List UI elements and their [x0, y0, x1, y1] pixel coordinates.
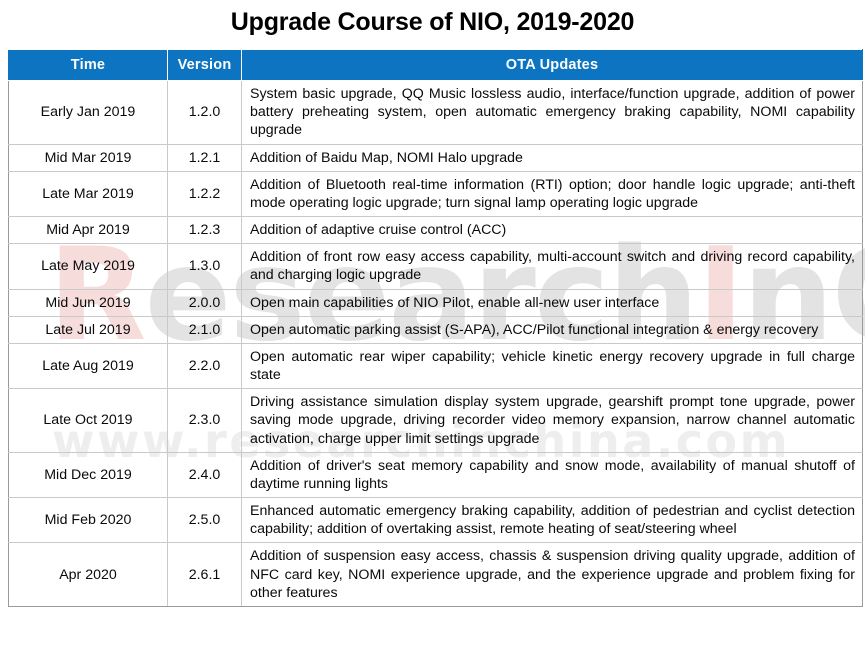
page-root: ResearchInChina www.researchinchina.com …: [0, 0, 865, 672]
cell-ota-updates: Enhanced automatic emergency braking cap…: [242, 498, 863, 543]
cell-version: 1.2.0: [168, 81, 242, 145]
cell-version: 2.5.0: [168, 498, 242, 543]
table-header: Time Version OTA Updates: [9, 50, 863, 81]
table-row: Mid Mar 20191.2.1Addition of Baidu Map, …: [9, 144, 863, 171]
ota-updates-table: Time Version OTA Updates Early Jan 20191…: [8, 49, 863, 607]
cell-ota-updates: Addition of driver's seat memory capabil…: [242, 452, 863, 497]
table-container: Time Version OTA Updates Early Jan 20191…: [8, 49, 862, 607]
cell-time: Late Jul 2019: [9, 316, 168, 343]
table-row: Mid Feb 20202.5.0Enhanced automatic emer…: [9, 498, 863, 543]
cell-version: 1.2.2: [168, 171, 242, 216]
cell-version: 2.0.0: [168, 289, 242, 316]
column-header-updates: OTA Updates: [242, 50, 863, 81]
cell-time: Late May 2019: [9, 244, 168, 289]
cell-time: Mid Mar 2019: [9, 144, 168, 171]
cell-time: Mid Apr 2019: [9, 217, 168, 244]
cell-time: Apr 2020: [9, 543, 168, 607]
table-row: Late May 20191.3.0Addition of front row …: [9, 244, 863, 289]
cell-time: Mid Feb 2020: [9, 498, 168, 543]
cell-ota-updates: Open main capabilities of NIO Pilot, ena…: [242, 289, 863, 316]
cell-time: Mid Jun 2019: [9, 289, 168, 316]
cell-version: 2.1.0: [168, 316, 242, 343]
table-row: Mid Jun 20192.0.0Open main capabilities …: [9, 289, 863, 316]
cell-ota-updates: System basic upgrade, QQ Music lossless …: [242, 81, 863, 145]
cell-version: 2.2.0: [168, 343, 242, 388]
cell-ota-updates: Driving assistance simulation display sy…: [242, 389, 863, 453]
cell-time: Early Jan 2019: [9, 81, 168, 145]
table-row: Early Jan 20191.2.0System basic upgrade,…: [9, 81, 863, 145]
cell-ota-updates: Addition of Bluetooth real-time informat…: [242, 171, 863, 216]
cell-time: Late Aug 2019: [9, 343, 168, 388]
cell-version: 1.2.3: [168, 217, 242, 244]
cell-version: 2.4.0: [168, 452, 242, 497]
cell-version: 2.3.0: [168, 389, 242, 453]
table-row: Late Aug 20192.2.0Open automatic rear wi…: [9, 343, 863, 388]
cell-version: 1.3.0: [168, 244, 242, 289]
cell-time: Late Oct 2019: [9, 389, 168, 453]
cell-ota-updates: Addition of Baidu Map, NOMI Halo upgrade: [242, 144, 863, 171]
table-row: Late Oct 20192.3.0Driving assistance sim…: [9, 389, 863, 453]
table-row: Mid Dec 20192.4.0Addition of driver's se…: [9, 452, 863, 497]
column-header-version: Version: [168, 50, 242, 81]
cell-version: 1.2.1: [168, 144, 242, 171]
column-header-time: Time: [9, 50, 168, 81]
table-row: Apr 20202.6.1Addition of suspension easy…: [9, 543, 863, 607]
cell-ota-updates: Open automatic parking assist (S-APA), A…: [242, 316, 863, 343]
table-header-row: Time Version OTA Updates: [9, 50, 863, 81]
table-body: Early Jan 20191.2.0System basic upgrade,…: [9, 81, 863, 607]
cell-ota-updates: Addition of front row easy access capabi…: [242, 244, 863, 289]
table-row: Mid Apr 20191.2.3Addition of adaptive cr…: [9, 217, 863, 244]
cell-version: 2.6.1: [168, 543, 242, 607]
cell-ota-updates: Open automatic rear wiper capability; ve…: [242, 343, 863, 388]
table-row: Late Jul 20192.1.0Open automatic parking…: [9, 316, 863, 343]
page-title: Upgrade Course of NIO, 2019-2020: [0, 0, 865, 37]
cell-ota-updates: Addition of adaptive cruise control (ACC…: [242, 217, 863, 244]
cell-ota-updates: Addition of suspension easy access, chas…: [242, 543, 863, 607]
cell-time: Late Mar 2019: [9, 171, 168, 216]
cell-time: Mid Dec 2019: [9, 452, 168, 497]
table-row: Late Mar 20191.2.2Addition of Bluetooth …: [9, 171, 863, 216]
